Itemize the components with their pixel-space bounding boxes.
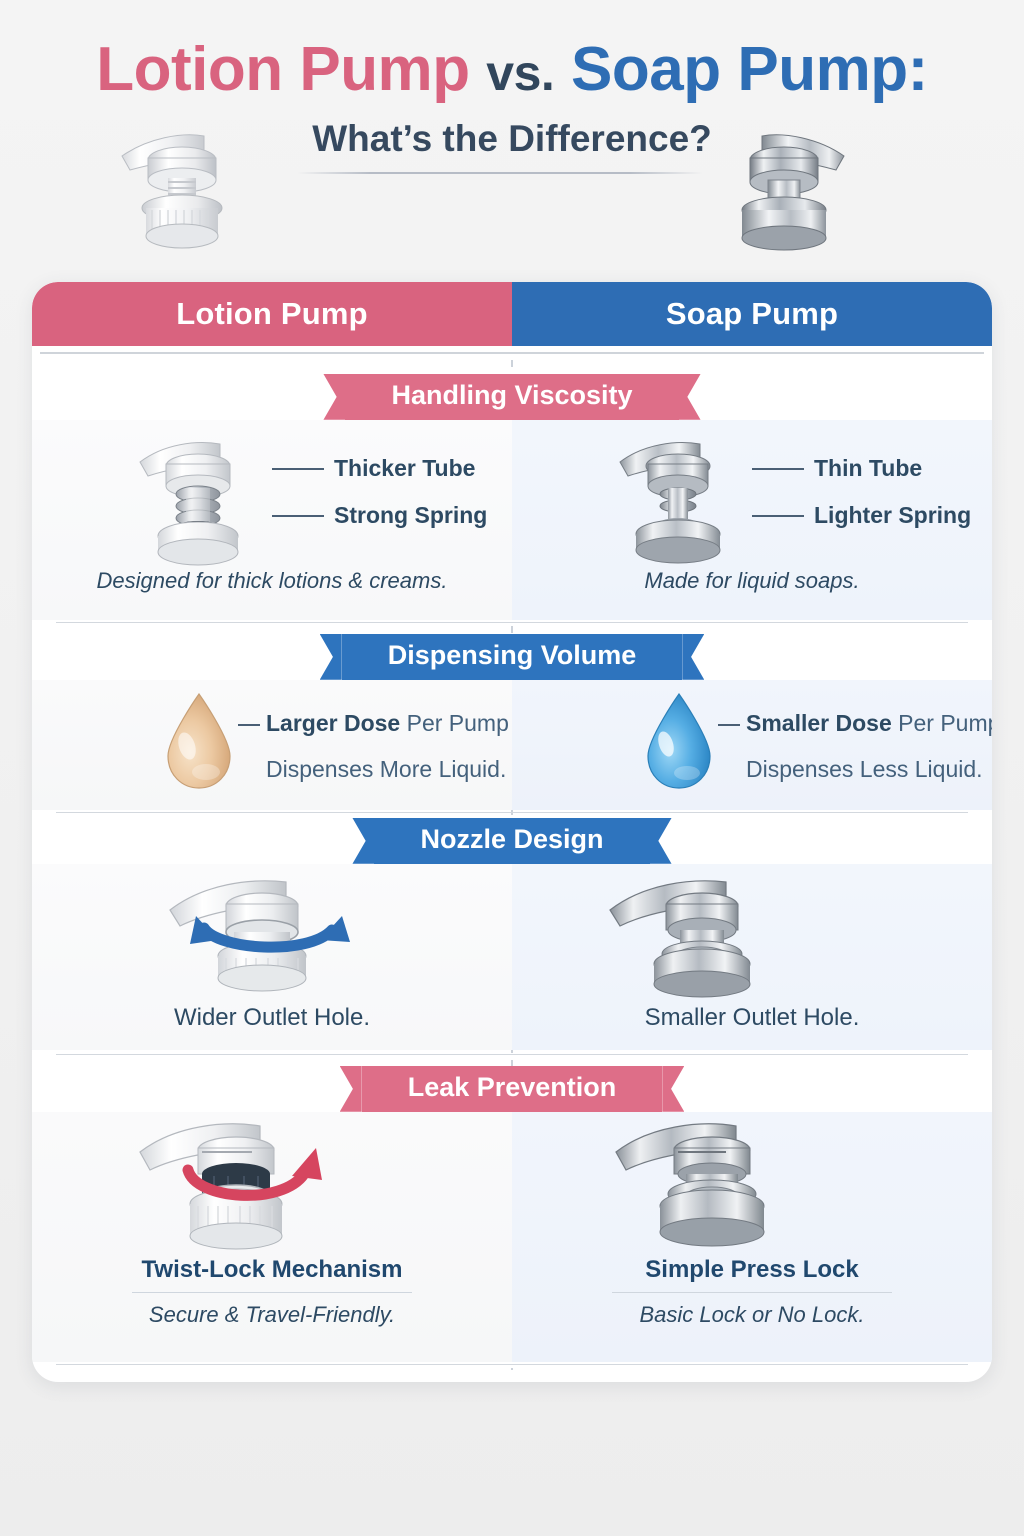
cell-soap-handling-viscosity: Thin Tube Lighter Spring Made for liquid… — [512, 420, 992, 620]
section-ribbon-handling-viscosity: Handling Viscosity — [32, 374, 992, 420]
cell-soap-leak-prevention: Simple Press Lock Basic Lock or No Lock. — [512, 1112, 992, 1362]
caption-soap-viscosity: Made for liquid soaps. — [512, 568, 992, 594]
lotion-pump-nozzle-icon — [160, 876, 390, 1011]
caption-soap-leak: Basic Lock or No Lock. — [512, 1302, 992, 1328]
header: Lotion Pump vs. Soap Pump: What’s the Di… — [0, 0, 1024, 282]
leader-line-smaller-dose — [718, 724, 740, 726]
column-headers: Lotion Pump Soap Pump — [32, 282, 992, 346]
leader-line-lighter-spring — [752, 515, 804, 517]
label-divider-left — [132, 1292, 412, 1293]
callout-lighter-spring: Lighter Spring — [814, 502, 971, 529]
section-divider-4 — [56, 1364, 968, 1365]
title-lotion-pump: Lotion Pump — [96, 35, 469, 104]
section-divider-3 — [56, 1054, 968, 1055]
title-soap-pump: Soap Pump: — [571, 35, 928, 104]
caption-lotion-nozzle: Wider Outlet Hole. — [32, 1004, 512, 1032]
callout-larger-dose-soft: Per Pump — [407, 710, 509, 736]
soap-pump-cutaway-icon — [604, 428, 754, 578]
column-header-lotion-pump[interactable]: Lotion Pump — [32, 282, 512, 346]
section-row-handling-viscosity: Thicker Tube Strong Spring Designed for … — [32, 420, 992, 620]
infographic-page: Lotion Pump vs. Soap Pump: What’s the Di… — [0, 0, 1024, 1536]
section-title-handling-viscosity: Handling Viscosity — [345, 374, 678, 420]
callout-thin-tube: Thin Tube — [814, 455, 922, 482]
subtitle-divider — [297, 172, 703, 174]
cell-lotion-leak-prevention: Twist-Lock Mechanism Secure & Travel-Fri… — [32, 1112, 512, 1362]
lotion-pump-cutaway-icon — [124, 428, 274, 578]
section-ribbon-dispensing-volume: Dispensing Volume — [32, 634, 992, 680]
hero-lotion-pump-icon — [108, 112, 258, 267]
section-row-nozzle-design: Wider Outlet Hole. — [32, 864, 992, 1050]
page-title: Lotion Pump vs. Soap Pump: — [0, 34, 1024, 105]
section-title-dispensing-volume: Dispensing Volume — [342, 634, 683, 680]
callout-thicker-tube: Thicker Tube — [334, 455, 475, 482]
label-divider-right — [612, 1292, 892, 1293]
soap-droplet-icon — [640, 690, 718, 794]
section-ribbon-nozzle-design: Nozzle Design — [32, 818, 992, 864]
section-title-nozzle-design: Nozzle Design — [374, 818, 649, 864]
section-title-leak-prevention: Leak Prevention — [362, 1066, 663, 1112]
callout-smaller-dose-strong: Smaller Dose — [746, 710, 892, 736]
comparison-card: Lotion Pump Soap Pump Handling Viscosity — [32, 282, 992, 1382]
leader-line-thin-tube — [752, 468, 804, 470]
hero-soap-pump-icon — [708, 112, 858, 267]
section-row-dispensing-volume: Larger Dose Per Pump Dispenses More Liqu… — [32, 680, 992, 810]
section-divider-1 — [56, 622, 968, 623]
label-simple-press-lock: Simple Press Lock — [512, 1256, 992, 1284]
section-row-leak-prevention: Twist-Lock Mechanism Secure & Travel-Fri… — [32, 1112, 992, 1362]
caption-lotion-dispensing: Dispenses More Liquid. — [266, 756, 506, 783]
soap-pump-presslock-icon — [608, 1118, 848, 1273]
title-vs: vs. — [486, 45, 554, 101]
cell-lotion-dispensing-volume: Larger Dose Per Pump Dispenses More Liqu… — [32, 680, 512, 810]
callout-smaller-dose: Smaller Dose Per Pump — [746, 710, 992, 737]
lotion-droplet-icon — [160, 690, 238, 794]
cell-soap-nozzle-design: Smaller Outlet Hole. — [512, 864, 992, 1050]
callout-strong-spring: Strong Spring — [334, 502, 487, 529]
caption-soap-nozzle: Smaller Outlet Hole. — [512, 1004, 992, 1032]
lotion-pump-twistlock-icon — [132, 1118, 372, 1273]
column-header-soap-pump[interactable]: Soap Pump — [512, 282, 992, 346]
caption-soap-dispensing: Dispenses Less Liquid. — [746, 756, 983, 783]
leader-line-thicker-tube — [272, 468, 324, 470]
cell-lotion-handling-viscosity: Thicker Tube Strong Spring Designed for … — [32, 420, 512, 620]
section-divider-2 — [56, 812, 968, 813]
cell-soap-dispensing-volume: Smaller Dose Per Pump Dispenses Less Liq… — [512, 680, 992, 810]
callout-smaller-dose-soft: Per Pump — [898, 710, 992, 736]
callout-larger-dose-strong: Larger Dose — [266, 710, 400, 736]
caption-lotion-leak: Secure & Travel-Friendly. — [32, 1302, 512, 1328]
section-ribbon-leak-prevention: Leak Prevention — [32, 1066, 992, 1112]
cell-lotion-nozzle-design: Wider Outlet Hole. — [32, 864, 512, 1050]
caption-lotion-viscosity: Designed for thick lotions & creams. — [32, 568, 512, 594]
header-underline — [40, 352, 984, 354]
soap-pump-nozzle-icon — [600, 876, 830, 1011]
callout-larger-dose: Larger Dose Per Pump — [266, 710, 509, 737]
label-twist-lock-mechanism: Twist-Lock Mechanism — [32, 1256, 512, 1284]
leader-line-larger-dose — [238, 724, 260, 726]
leader-line-strong-spring — [272, 515, 324, 517]
